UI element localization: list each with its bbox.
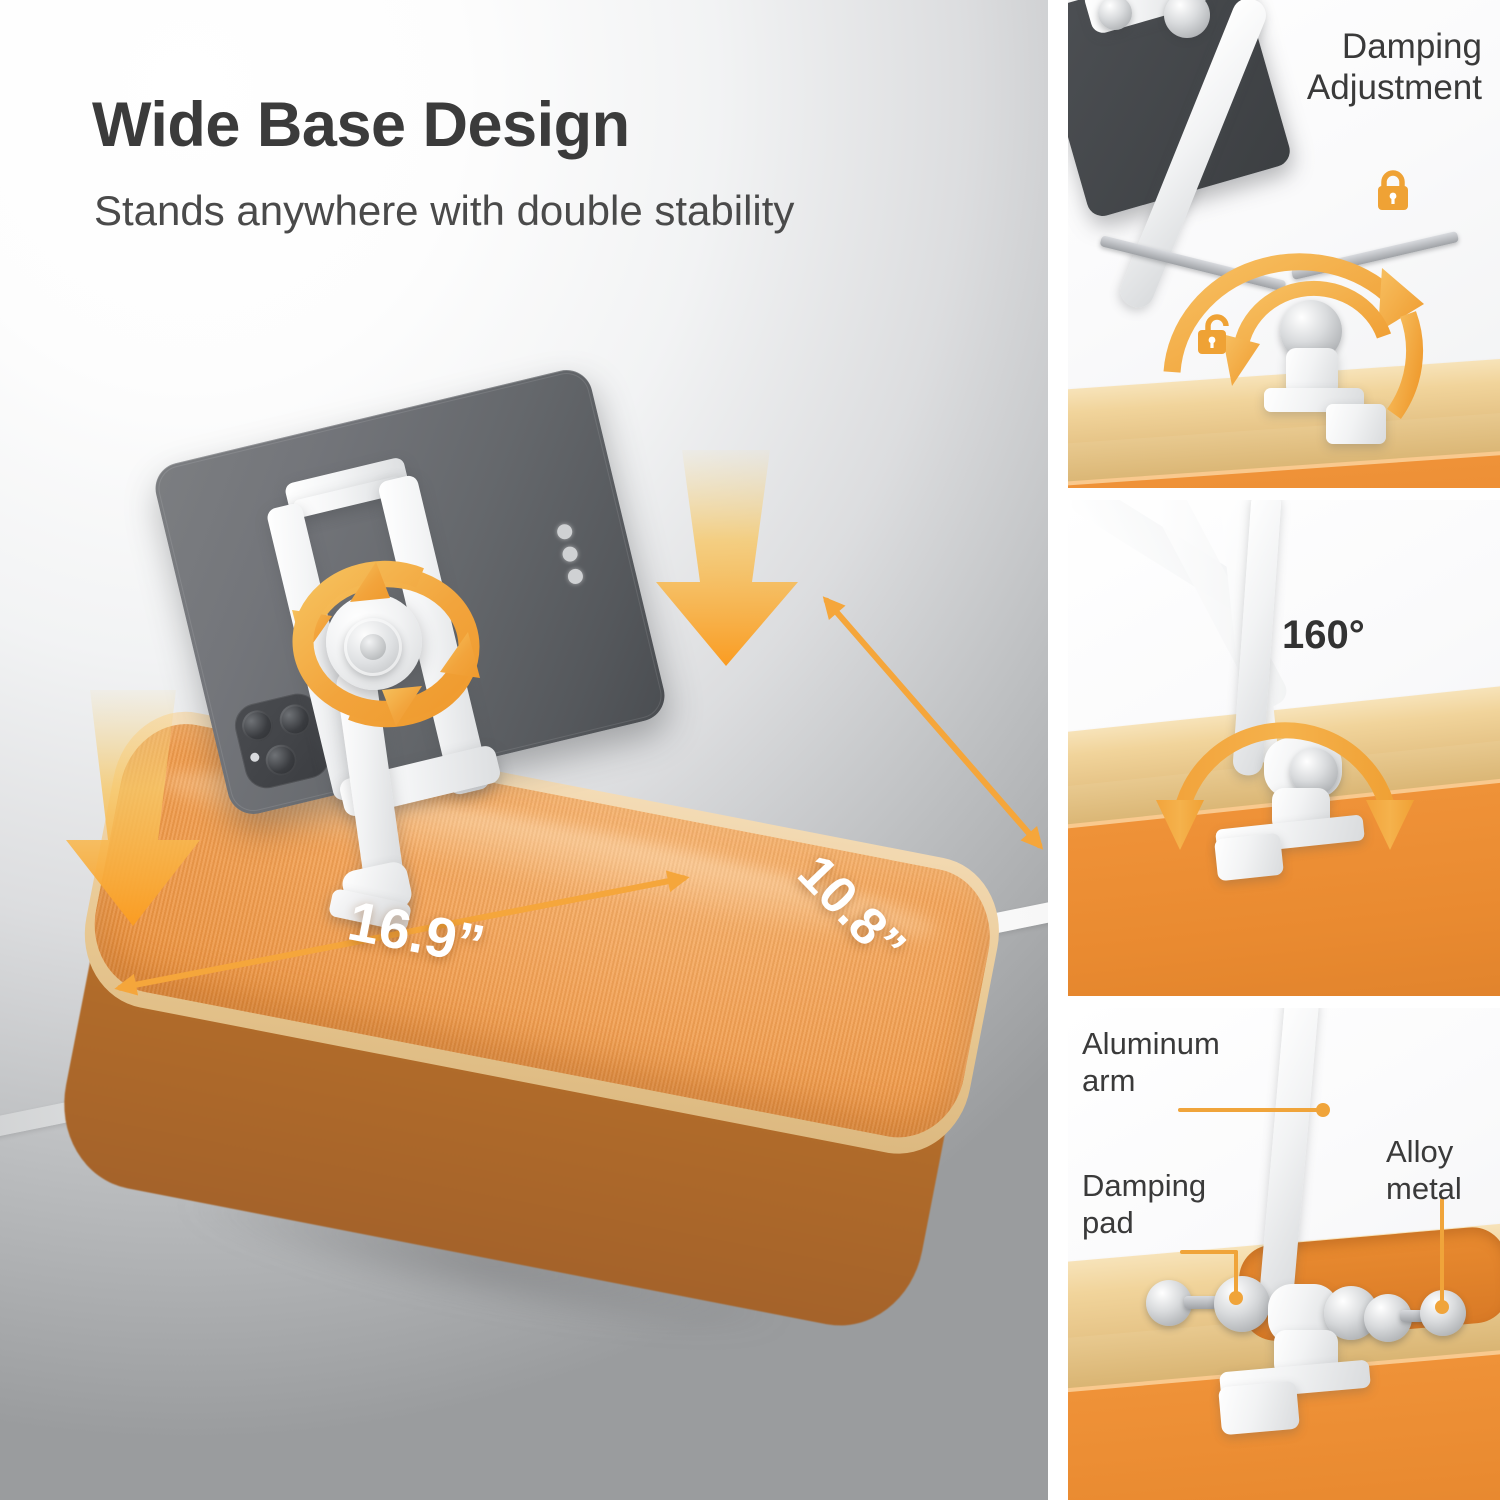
callout-label-aluminum-arm: Aluminum arm <box>1082 1026 1220 1099</box>
panel-damping-adjustment: Damping Adjustment <box>1068 0 1500 488</box>
callout-label-alloy-metal: Alloy metal <box>1386 1134 1462 1207</box>
feature-panel-column: Damping Adjustment <box>1068 0 1500 1500</box>
padlock-open-icon <box>1196 312 1238 363</box>
hero-panel: Wide Base Design Stands anywhere with do… <box>0 0 1048 1500</box>
padlock-closed-icon <box>1373 168 1413 219</box>
leader-dot-damping-pad <box>1229 1291 1243 1305</box>
leader-line-alloy-metal <box>1440 1198 1444 1306</box>
leader-dot-alloy-metal <box>1435 1300 1449 1314</box>
press-arrow-left-icon <box>48 690 218 930</box>
panel-materials: Aluminum arm Damping pad Alloy metal <box>1068 1008 1500 1500</box>
leader-line-aluminum-arm <box>1178 1108 1324 1112</box>
leader-dot-aluminum-arm <box>1316 1103 1330 1117</box>
page-title: Wide Base Design <box>92 92 992 159</box>
panel-label-damping-adjustment: Damping Adjustment <box>1307 26 1482 109</box>
desk-clamp <box>1218 1381 1300 1436</box>
camera-flash-icon <box>249 752 260 763</box>
press-arrow-right-icon <box>636 450 816 670</box>
damping-pad <box>1214 1276 1270 1332</box>
leader-line-damping-pad <box>1180 1250 1238 1254</box>
curved-arrow-inner-icon <box>1216 240 1406 405</box>
callout-label-damping-pad: Damping pad <box>1082 1168 1206 1241</box>
panel-label-tilt-angle: 160° <box>1282 612 1365 659</box>
curved-double-arrow-icon <box>1150 660 1420 865</box>
infographic-canvas: Wide Base Design Stands anywhere with do… <box>0 0 1500 1500</box>
panel-tilt-angle: 160° <box>1068 500 1500 996</box>
rotation-arrows-icon <box>256 540 516 750</box>
page-subtitle: Stands anywhere with double stability <box>94 184 894 238</box>
